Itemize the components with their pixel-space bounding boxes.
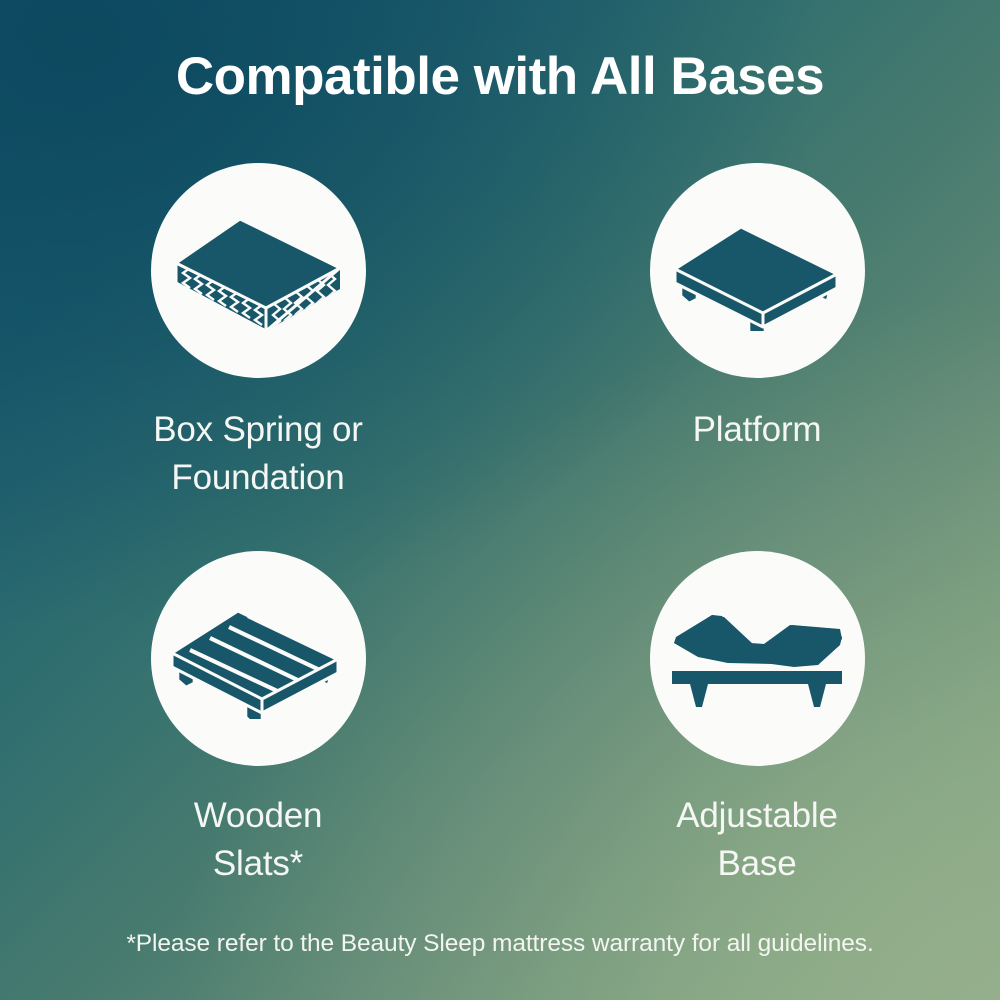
- base-label: Adjustable Base: [676, 792, 837, 889]
- base-label: Wooden Slats*: [194, 792, 323, 889]
- base-label-line1: Platform: [693, 410, 822, 449]
- base-label-line1: Box Spring or: [153, 410, 362, 449]
- base-item-platform: Platform: [500, 163, 1000, 503]
- base-label-line1: Adjustable: [676, 796, 837, 835]
- wooden-slats-icon: [168, 597, 348, 719]
- base-label: Platform: [693, 406, 822, 454]
- base-label-line2: Slats*: [213, 844, 303, 883]
- base-item-box-spring: Box Spring or Foundation: [0, 163, 500, 503]
- base-label-line2: Base: [718, 844, 797, 883]
- platform-base-icon: [669, 211, 845, 331]
- base-item-adjustable: Adjustable Base: [500, 551, 1000, 889]
- base-label: Box Spring or Foundation: [153, 406, 362, 503]
- base-item-wooden-slats: Wooden Slats*: [0, 551, 500, 889]
- base-icon-circle: [650, 163, 865, 378]
- base-icon-circle: [151, 551, 366, 766]
- infographic-page: Compatible with All Bases: [0, 0, 1000, 1000]
- footnote-disclaimer: *Please refer to the Beauty Sleep mattre…: [0, 930, 1000, 958]
- adjustable-base-icon: [668, 599, 846, 717]
- base-icon-circle: [650, 551, 865, 766]
- base-label-line1: Wooden: [194, 796, 323, 835]
- page-title: Compatible with All Bases: [0, 48, 1000, 106]
- bases-row: Box Spring or Foundation: [0, 163, 1000, 503]
- base-label-line2: Foundation: [171, 458, 344, 497]
- bases-grid: Box Spring or Foundation: [0, 163, 1000, 888]
- base-icon-circle: [151, 163, 366, 378]
- box-spring-icon: [170, 211, 346, 331]
- bases-row: Wooden Slats*: [0, 551, 1000, 889]
